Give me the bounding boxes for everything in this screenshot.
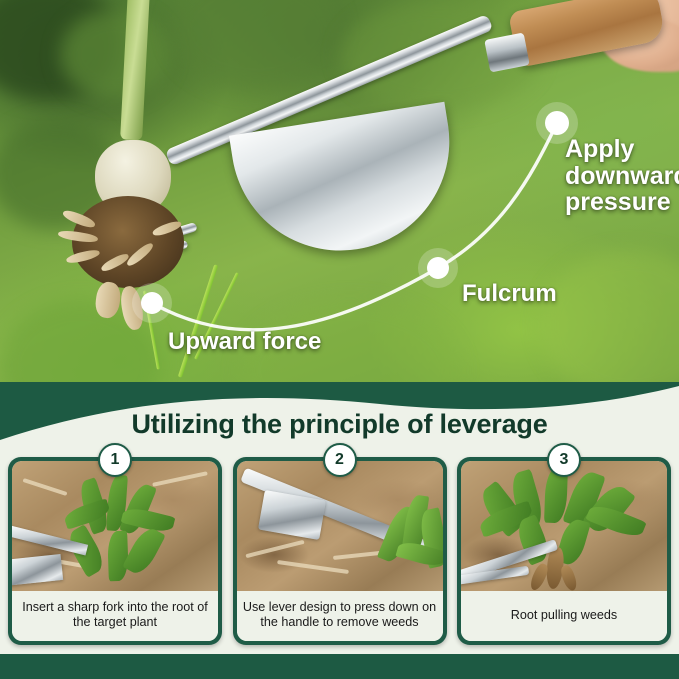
callout-dot-fulcrum: [427, 257, 449, 279]
steps-card-row: 1: [8, 457, 671, 645]
step-image-1: [12, 461, 218, 591]
step-card-2[interactable]: 2: [233, 457, 447, 645]
callout-line: downward: [565, 163, 679, 190]
hero-photo: Apply downward pressure Fulcrum Upward f…: [0, 0, 679, 430]
callout-line: pressure: [565, 189, 679, 216]
section-heading: Utilizing the principle of leverage: [0, 409, 679, 440]
step-caption-2: Use lever design to press down on the ha…: [237, 591, 443, 641]
lower-panel: Utilizing the principle of leverage 1: [0, 382, 679, 679]
step-caption-3: Root pulling weeds: [461, 591, 667, 641]
step-image-2: [237, 461, 443, 591]
step-card-3[interactable]: 3: [457, 457, 671, 645]
step-badge-2: 2: [323, 443, 357, 477]
step-badge-3: 3: [547, 443, 581, 477]
callout-line: Apply: [565, 136, 679, 163]
infographic-page: Apply downward pressure Fulcrum Upward f…: [0, 0, 679, 679]
step-card-1[interactable]: 1: [8, 457, 222, 645]
step-badge-1: 1: [98, 443, 132, 477]
callout-label-upward-force: Upward force: [168, 329, 321, 354]
step-image-3: [461, 461, 667, 591]
callout-label-fulcrum: Fulcrum: [462, 281, 557, 306]
step-caption-1: Insert a sharp fork into the root of the…: [12, 591, 218, 641]
callout-label-apply-downward-pressure: Apply downward pressure: [565, 136, 679, 216]
callout-dot-upward-force: [141, 292, 163, 314]
callout-dot-apply-downward-pressure: [545, 111, 569, 135]
